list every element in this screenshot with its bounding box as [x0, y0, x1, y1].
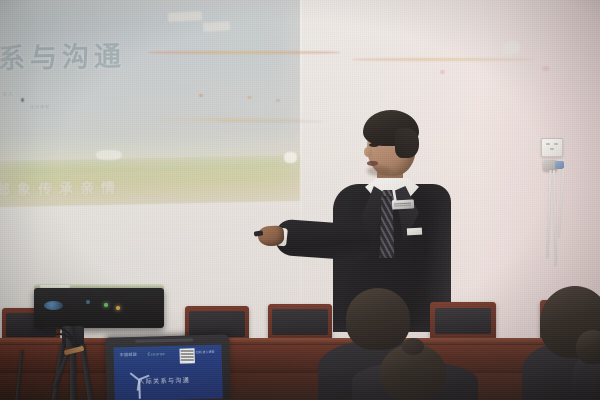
projector-lens-icon — [44, 301, 63, 310]
desk-front-panel — [0, 345, 600, 375]
audience-front-center — [352, 344, 478, 400]
wall-fleck-2 — [247, 96, 252, 99]
wall-fleck-1 — [199, 94, 203, 97]
wall-fleck-3 — [276, 99, 280, 102]
wall-dark-speck — [21, 98, 24, 102]
chair-pad — [189, 311, 244, 336]
audience-head — [576, 330, 600, 364]
presenter-jaw-shadow — [367, 166, 391, 176]
laptop-logo-right: Ecourse — [148, 351, 166, 356]
wall-tape-residue-2 — [203, 21, 231, 32]
pocket-square — [407, 228, 422, 236]
audience-hair-bun — [402, 338, 424, 355]
desk-surface — [0, 338, 600, 345]
wall-tape-residue-1 — [168, 11, 202, 22]
projector-led-dim — [86, 300, 90, 304]
presenter-hair-side — [395, 128, 419, 158]
laptop-logo-left: 中国邮政 — [120, 352, 138, 358]
wall-marker-streak-2 — [352, 58, 534, 61]
name-badge — [392, 199, 414, 209]
wall-marker-streak-1 — [148, 51, 340, 54]
qr-code-icon — [179, 348, 194, 363]
audience-head — [346, 288, 410, 350]
laptop-slide-title: 人际关系与沟通 — [138, 375, 190, 385]
projector-led-amber — [116, 306, 120, 310]
presenter-nose — [364, 147, 372, 157]
presenter-hand — [257, 225, 284, 246]
audience-far-right-edge — [572, 330, 600, 400]
laptop-hinge — [135, 338, 193, 343]
photo-scene: 关系与沟通 主讲人 培训课程 邮象传承亲情 — [0, 0, 600, 400]
laptop[interactable]: 中国邮政 Ecourse 扫码 进入课堂 人际关系与沟通 — [105, 334, 231, 400]
presenter-mouth — [367, 161, 378, 166]
wall-fleck-5 — [542, 66, 550, 71]
wall-fleck-4 — [440, 70, 445, 74]
qr-caption: 扫码 进入课堂 — [196, 350, 215, 354]
presenter-extended-arm — [274, 219, 372, 262]
projector-led-green — [104, 303, 108, 307]
laptop-screen: 中国邮政 Ecourse 扫码 进入课堂 人际关系与沟通 — [113, 345, 222, 400]
wall-smudge-left — [96, 150, 122, 160]
power-outlet-icon — [541, 138, 563, 157]
